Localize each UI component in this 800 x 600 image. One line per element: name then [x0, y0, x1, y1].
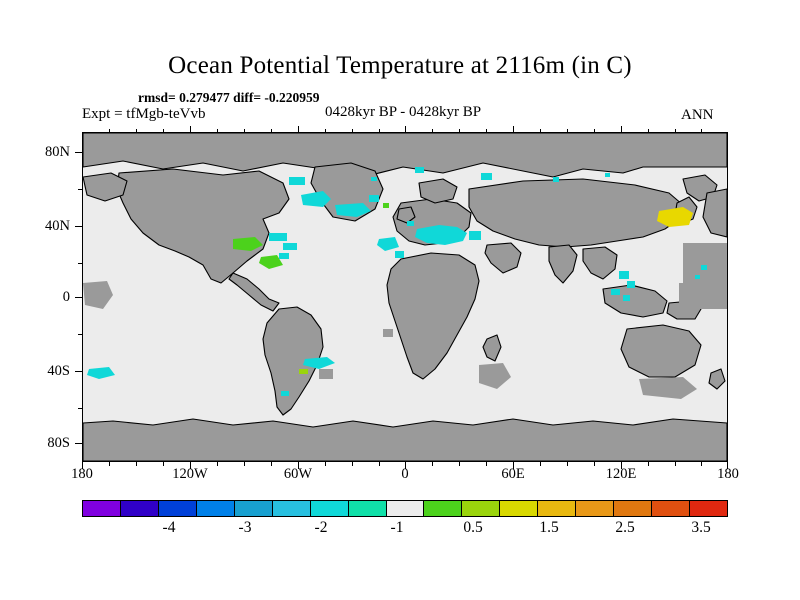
x-tick-label: 60W	[268, 466, 328, 483]
y-tick-label: 0	[18, 289, 70, 306]
y-tick-label: 80N	[18, 144, 70, 161]
colorbar-swatch	[197, 501, 235, 516]
y-tick-label: 40S	[18, 363, 70, 380]
x-tick-label: 120W	[160, 466, 220, 483]
y-tick-label: 40N	[18, 218, 70, 235]
colorbar-swatch	[273, 501, 311, 516]
colorbar-swatch	[159, 501, 197, 516]
colorbar-swatch	[538, 501, 576, 516]
colorbar	[82, 500, 728, 517]
colorbar-tick-label: -1	[372, 519, 422, 537]
colorbar-tick-label: -4	[144, 519, 194, 537]
colorbar-tick-label: 1.5	[524, 519, 574, 537]
colorbar-swatch	[387, 501, 425, 516]
colorbar-swatch	[614, 501, 652, 516]
map-svg	[83, 133, 727, 461]
colorbar-swatch	[462, 501, 500, 516]
figure-root: Ocean Potential Temperature at 2116m (in…	[0, 0, 800, 600]
x-tick-label: 60E	[483, 466, 543, 483]
colorbar-tick-label: -2	[296, 519, 346, 537]
colorbar-swatch	[576, 501, 614, 516]
x-tick-label: 180	[52, 466, 112, 483]
colorbar-swatch	[690, 501, 727, 516]
page-title: Ocean Potential Temperature at 2116m (in…	[0, 52, 800, 80]
colorbar-swatch	[349, 501, 387, 516]
anomaly-green-speck	[383, 203, 389, 208]
colorbar-tick-label: -3	[220, 519, 270, 537]
map-canvas	[83, 133, 727, 461]
colorbar-swatch	[311, 501, 349, 516]
season-label: ANN	[681, 107, 714, 124]
experiment-label: Expt = tfMgb-teVvb	[82, 106, 205, 123]
colorbar-swatch	[500, 501, 538, 516]
colorbar-swatch	[424, 501, 462, 516]
colorbar-tick-label: 0.5	[448, 519, 498, 537]
world-map-plot	[82, 132, 728, 462]
colorbar-labels: -4 -3 -2 -1 0.5 1.5 2.5 3.5	[82, 519, 728, 541]
colorbar-tick-label: 3.5	[676, 519, 726, 537]
x-tick-label: 0	[375, 466, 435, 483]
colorbar-swatch	[83, 501, 121, 516]
colorbar-tick-label: 2.5	[600, 519, 650, 537]
rmsd-annotation: rmsd= 0.279477 diff= -0.220959	[138, 90, 320, 106]
colorbar-swatch	[652, 501, 690, 516]
y-tick-label: 80S	[18, 435, 70, 452]
x-tick-label: 120E	[591, 466, 651, 483]
period-label: 0428kyr BP - 0428kyr BP	[325, 104, 481, 121]
colorbar-swatch	[235, 501, 273, 516]
colorbar-swatch	[121, 501, 159, 516]
x-tick-label: 180	[698, 466, 758, 483]
